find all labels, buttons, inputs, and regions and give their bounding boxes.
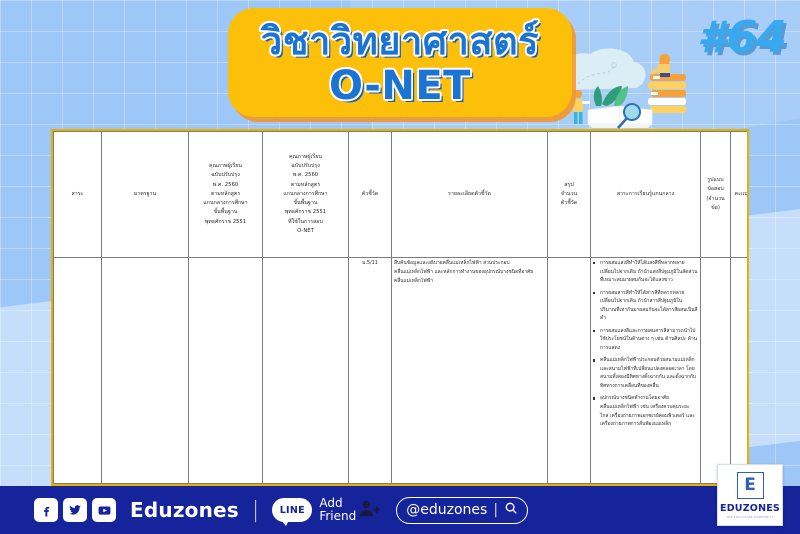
list-item: การผสมแสงสีและการผสมสารสีสามารถนำไปใช้ปร…: [593, 327, 698, 353]
line-icon[interactable]: LINE: [272, 498, 312, 522]
title-subject: วิชาวิทยาศาสตร์: [261, 22, 539, 66]
eduzones-logo: E EDUZONES THE EDUCATION COMMUNITY: [717, 464, 783, 526]
hdr-line: พ.ศ. 2560: [191, 181, 260, 190]
table-row: ม.5/11 สืบค้นข้อมูลและอธิบายคลื่นแม่เหล็…: [54, 258, 750, 484]
footer-bar: Eduzones | LINE Add Friend @eduzones |: [0, 486, 800, 534]
list-item: การผสมสารสีทำให้ได้สารสีที่หลากหลายเปลี่…: [593, 289, 698, 323]
hdr-line: แกนกลางการศึกษา: [265, 190, 346, 199]
cell-strand: [54, 258, 102, 484]
hdr-line: แกนกลางการศึกษา: [191, 199, 260, 208]
add-friend-line2: Friend: [319, 510, 356, 523]
hdr-line: ฉบับปรับปรุง: [191, 171, 260, 180]
hdr-line: พุทธศักราช 2551: [265, 208, 346, 217]
hdr-line: สรุป: [550, 181, 588, 190]
hdr-line: ตามหลักสูตร: [191, 190, 260, 199]
hdr-line: พ.ศ. 2560: [265, 171, 346, 180]
hdr-line: พุทธศักราช 2551: [191, 218, 260, 227]
list-item: คลื่นแม่เหล็กไฟฟ้าประกอบด้วยสนามแม่เหล็ก…: [593, 356, 698, 390]
cell-core-content: การผสมแสงสีทำให้ได้แสงสีที่หลากหลายเปลี่…: [591, 258, 701, 484]
col-header-indicator: ตัวชี้วัด: [349, 132, 392, 258]
hdr-line: ขั้นพื้นฐาน: [265, 199, 346, 208]
logo-wordmark: EDUZONES: [720, 503, 780, 514]
hdr-line: ตามหลักสูตร: [265, 181, 346, 190]
cell-question-format: [701, 258, 731, 484]
hdr-line: ตัวชี้วัด: [550, 199, 588, 208]
core-content-list: การผสมแสงสีทำให้ได้แสงสีที่หลากหลายเปลี่…: [593, 259, 698, 429]
cell-standard: [102, 258, 189, 484]
list-item: อุปกรณ์บางชนิดทำงานโดยอาศัยคลื่นแม่เหล็ก…: [593, 394, 698, 428]
cell-indicator-detail: สืบค้นข้อมูลและอธิบายคลื่นแม่เหล็กไฟฟ้า …: [392, 258, 548, 484]
col-header-standard: มาตรฐาน: [102, 132, 189, 258]
col-header-indicator-count: สรุป จำนวน ตัวชี้วัด: [548, 132, 591, 258]
hdr-line: ฉบับปรับปรุง: [265, 162, 346, 171]
search-icon[interactable]: [504, 501, 518, 519]
issue-number: #64: [697, 12, 786, 63]
header: วิชาวิทยาศาสตร์ O-NET #64: [0, 0, 800, 128]
logo-tagline: THE EDUCATION COMMUNITY: [726, 516, 773, 519]
cell-quality-onet: [263, 258, 349, 484]
poster-page: วิชาวิทยาศาสตร์ O-NET #64 สาระ มาตรฐาน ค…: [0, 0, 800, 534]
table-header-row: สาระ มาตรฐาน คุณภาพผู้เรียน ฉบับปรับปรุง…: [54, 132, 750, 258]
col-header-indicator-detail: รายละเอียดตัวชี้วัด: [392, 132, 548, 258]
youtube-icon[interactable]: [92, 498, 116, 522]
add-friend-label[interactable]: Add Friend: [319, 497, 356, 522]
add-person-icon: [358, 499, 380, 521]
footer-divider: |: [252, 498, 259, 523]
curriculum-table: สาระ มาตรฐาน คุณภาพผู้เรียน ฉบับปรับปรุง…: [53, 131, 749, 484]
list-item: การผสมแสงสีทำให้ได้แสงสีที่หลากหลายเปลี่…: [593, 259, 698, 285]
col-header-question-format: รูปแบบ ข้อสอบ (จำนวน ข้อ): [701, 132, 731, 258]
hdr-line: ที่ใช้ในการสอบ: [265, 218, 346, 227]
study-illustration: [552, 44, 690, 130]
hdr-line: ขั้นพื้นฐาน: [191, 208, 260, 217]
col-header-quality-core: คุณภาพผู้เรียน ฉบับปรับปรุง พ.ศ. 2560 ตา…: [189, 132, 263, 258]
facebook-icon[interactable]: [34, 498, 58, 522]
logo-letter: E: [737, 472, 764, 499]
col-header-quality-onet: คุณภาพผู้เรียน ฉบับปรับปรุง พ.ศ. 2560 ตา…: [263, 132, 349, 258]
cell-score: [731, 258, 750, 484]
col-header-score: คะแนน: [731, 132, 750, 258]
title-exam: O-NET: [329, 66, 471, 106]
hdr-line: ข้อสอบ: [703, 185, 728, 194]
hdr-line: จำนวน: [550, 190, 588, 199]
cell-indicator: ม.5/11: [349, 258, 392, 484]
indicator-detail-text: สืบค้นข้อมูลและอธิบายคลื่นแม่เหล็กไฟฟ้า …: [394, 259, 545, 285]
col-header-strand: สาระ: [54, 132, 102, 258]
brand-name: Eduzones: [130, 498, 239, 522]
handle-text: @eduzones: [406, 502, 487, 518]
hdr-line: คุณภาพผู้เรียน: [191, 162, 260, 171]
col-header-core-content: สาระการเรียนรู้แกนกลาง: [591, 132, 701, 258]
hdr-line: ข้อ): [703, 204, 728, 213]
hdr-line: รูปแบบ: [703, 176, 728, 185]
hdr-line: (จำนวน: [703, 195, 728, 204]
twitter-icon[interactable]: [63, 498, 87, 522]
cell-indicator-count: [548, 258, 591, 484]
curriculum-table-container: สาระ มาตรฐาน คุณภาพผู้เรียน ฉบับปรับปรุง…: [51, 129, 749, 486]
handle-separator: |: [493, 502, 498, 518]
cell-quality-core: [189, 258, 263, 484]
title-banner: วิชาวิทยาศาสตร์ O-NET: [228, 8, 572, 117]
hdr-line: O-NET: [265, 227, 346, 236]
hdr-line: คุณภาพผู้เรียน: [265, 153, 346, 162]
handle-pill[interactable]: @eduzones |: [396, 497, 528, 524]
